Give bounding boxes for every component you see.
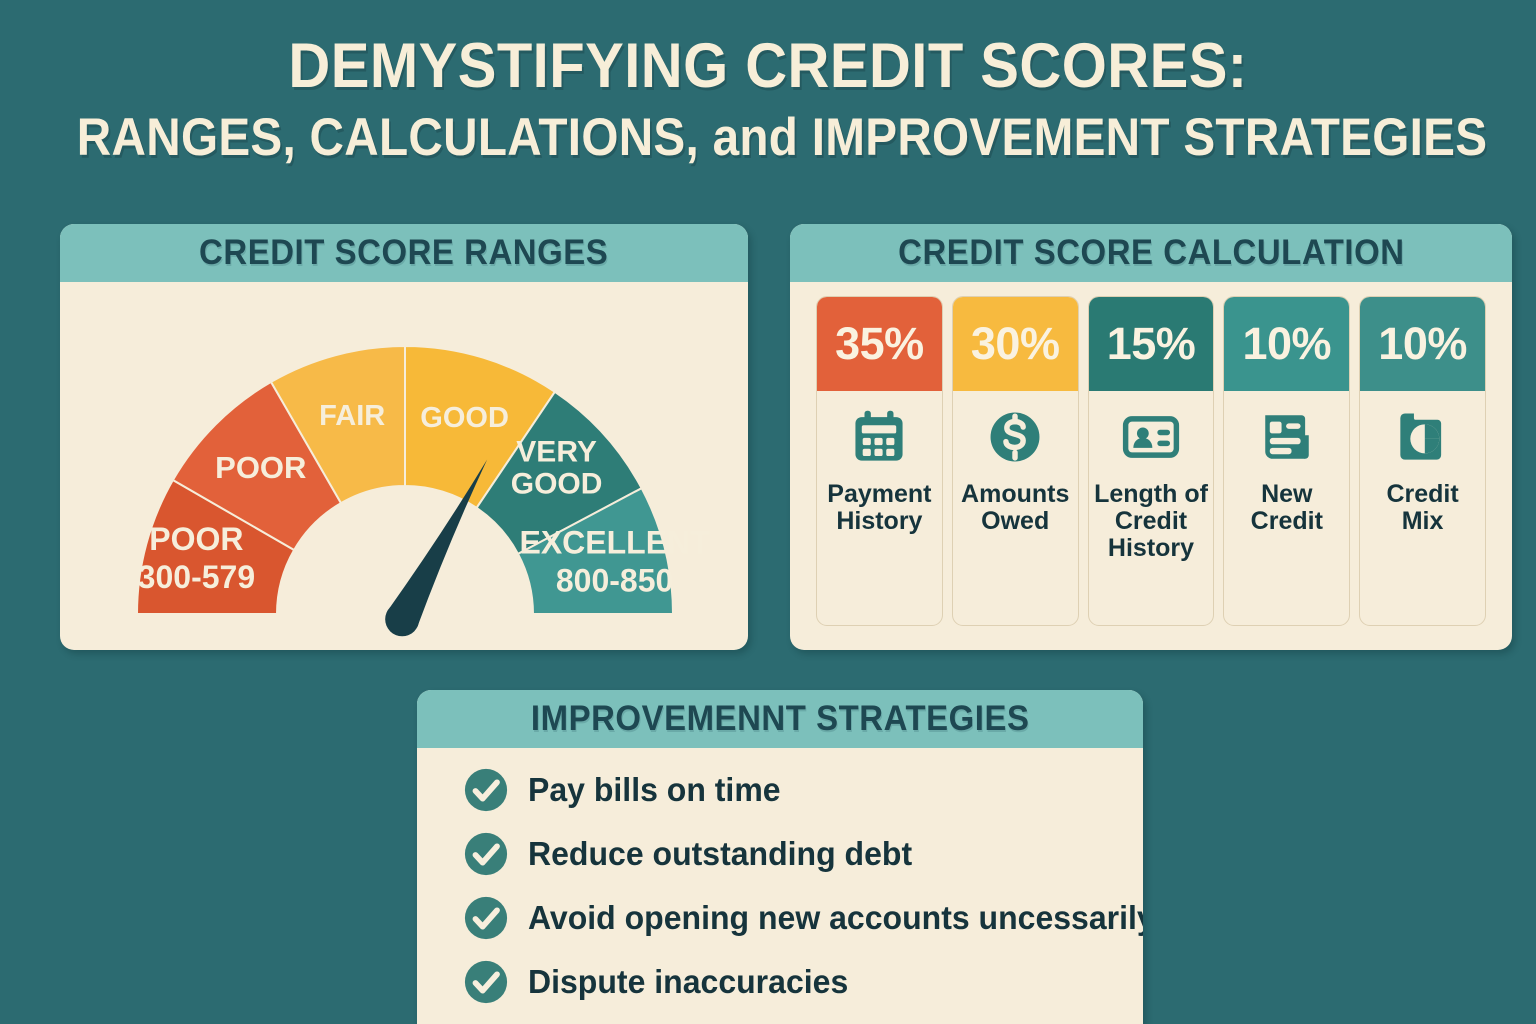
gauge-segment-label: POOR [149, 521, 243, 557]
ranges-card-body: POOR300-579POORFAIRGOODVERYGOODEXCELLENT… [60, 282, 748, 650]
credit-score-calculation-card: Credit Score Calculation 35%Payment Hist… [790, 224, 1512, 650]
improvement-tip-item: Reduce outstanding debt [463, 830, 1123, 878]
credit-score-ranges-card: Credit Score Ranges POOR300-579POORFAIRG… [60, 224, 748, 650]
factor-percentage: 15% [1089, 297, 1214, 391]
factor-card-length-of-credit-history[interactable]: 15%Length of Credit History [1088, 296, 1215, 626]
pie-chart-document-icon [1394, 405, 1452, 469]
ranges-card-header: Credit Score Ranges [60, 224, 748, 282]
calendar-icon [850, 405, 908, 469]
gauge-segment-label: EXCELLENT [519, 525, 710, 561]
calculation-card-header: Credit Score Calculation [790, 224, 1512, 282]
factor-label: Length of Credit History [1089, 481, 1214, 562]
gauge-segment-label: GOOD [420, 402, 509, 434]
check-circle-icon [463, 831, 509, 877]
factor-percentage: 30% [953, 297, 1078, 391]
news-document-icon [1258, 405, 1316, 469]
improvement-tip-label: Avoid opening new accounts uncessarily [528, 899, 1143, 937]
factor-label: Payment History [817, 481, 942, 535]
credit-score-gauge: POOR300-579POORFAIRGOODVERYGOODEXCELLENT… [60, 282, 748, 650]
improvement-tip-item: Avoid opening new accounts uncessarily [463, 894, 1123, 942]
improvement-card-title: Improvemennt Strategies [531, 699, 1030, 739]
check-circle-icon [463, 959, 509, 1005]
gauge-segment-label: POOR [215, 450, 306, 485]
calculation-card-body: 35%Payment History30%Amounts Owed15%Leng… [790, 282, 1512, 650]
factor-list: 35%Payment History30%Amounts Owed15%Leng… [816, 296, 1486, 626]
improvement-tip-label: Dispute inaccuracies [528, 963, 848, 1001]
gauge-segment-label: 300-579 [138, 559, 255, 595]
factor-label: Amounts Owed [953, 481, 1078, 535]
check-circle-icon [463, 767, 509, 813]
page-title: Demystifying Credit Scores: Ranges, Calc… [0, 34, 1536, 166]
page-title-line-2-part-2: Improvement Strategies [812, 108, 1488, 167]
check-circle-icon [463, 895, 509, 941]
improvement-card-body: Pay bills on timeReduce outstanding debt… [417, 748, 1143, 1024]
factor-percentage: 10% [1360, 297, 1485, 391]
improvement-tip-label: Reduce outstanding debt [528, 835, 912, 873]
gauge-segment-label: GOOD [511, 468, 603, 501]
factor-card-payment-history[interactable]: 35%Payment History [816, 296, 943, 626]
calculation-card-title: Credit Score Calculation [898, 233, 1404, 273]
factor-card-credit-mix[interactable]: 10%Credit Mix [1359, 296, 1486, 626]
dollar-circle-icon [986, 405, 1044, 469]
improvement-tip-item: Dispute inaccuracies [463, 958, 1123, 1006]
improvement-tip-item: Pay bills on time [463, 766, 1123, 814]
gauge-segment-label: VERY [516, 436, 597, 469]
factor-label: New Credit [1224, 481, 1349, 535]
factor-percentage: 10% [1224, 297, 1349, 391]
improvement-tips-list: Pay bills on timeReduce outstanding debt… [463, 766, 1123, 1022]
improvement-card-header: Improvemennt Strategies [417, 690, 1143, 748]
page-title-line-2-part-1: Ranges, Calculations, [77, 108, 699, 167]
page-title-line-2-and: and [713, 108, 799, 167]
ranges-card-title: Credit Score Ranges [199, 233, 608, 273]
factor-card-new-credit[interactable]: 10%New Credit [1223, 296, 1350, 626]
infographic-root: Demystifying Credit Scores: Ranges, Calc… [0, 0, 1536, 1024]
gauge-svg: POOR300-579POORFAIRGOODVERYGOODEXCELLENT… [60, 282, 748, 650]
improvement-tip-label: Pay bills on time [528, 771, 781, 809]
gauge-needle-pivot [385, 602, 419, 636]
improvement-strategies-card: Improvemennt Strategies Pay bills on tim… [417, 690, 1143, 1024]
factor-card-amounts-owed[interactable]: 30%Amounts Owed [952, 296, 1079, 626]
gauge-segment-label: FAIR [319, 400, 385, 432]
factor-percentage: 35% [817, 297, 942, 391]
gauge-segment-label: 800-850 [556, 563, 673, 599]
id-card-icon [1122, 405, 1180, 469]
page-title-line-2: Ranges, Calculations, and Improvement St… [77, 110, 1459, 166]
page-title-line-1: Demystifying Credit Scores: [61, 34, 1474, 98]
factor-label: Credit Mix [1360, 481, 1485, 535]
